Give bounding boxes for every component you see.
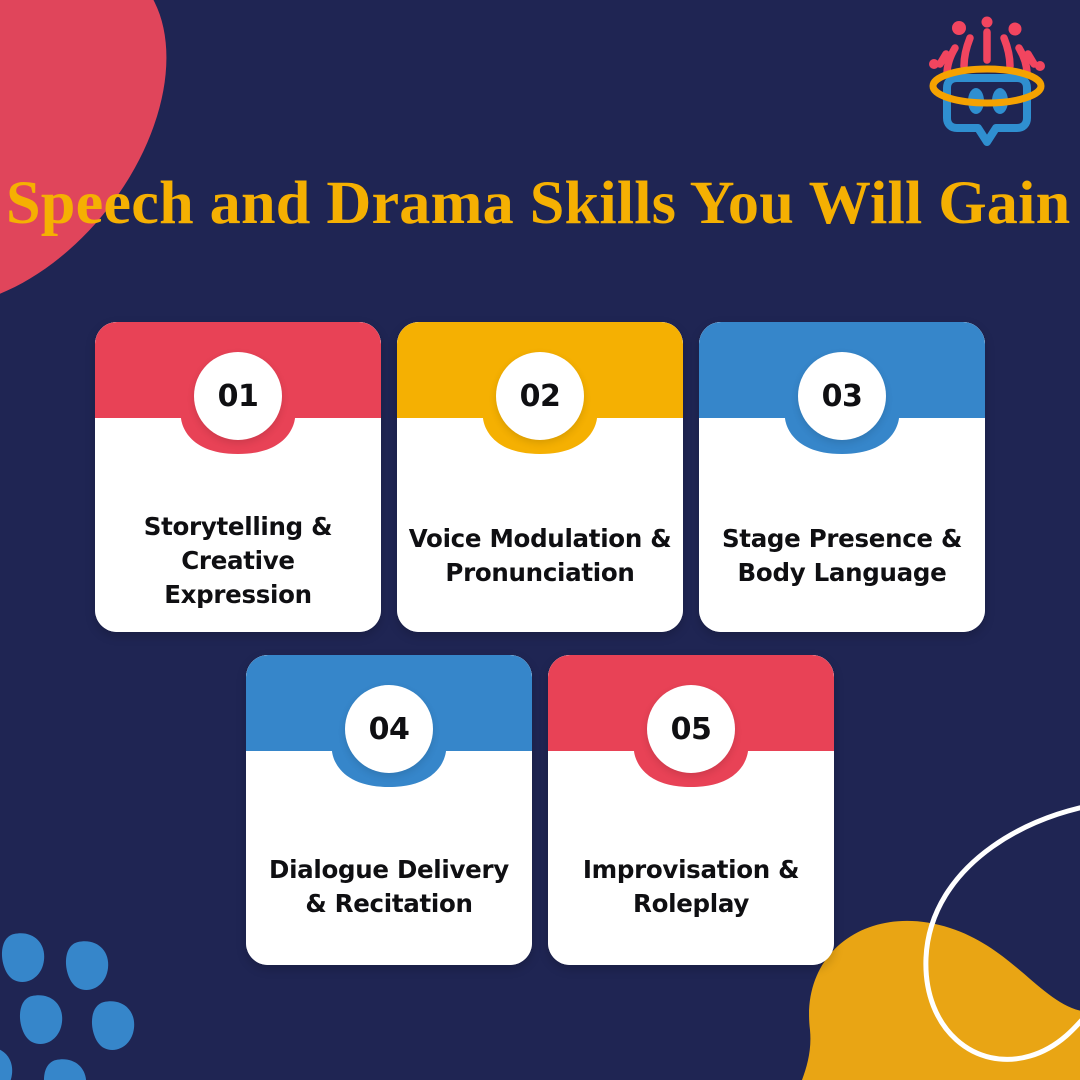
card-surface: 05 Improvisation & Roleplay [548, 655, 834, 965]
card-label: Dialogue Delivery & Recitation [269, 853, 509, 921]
card-number: 02 [520, 379, 561, 414]
card-surface: 02 Voice Modulation & Pronunciation [397, 322, 683, 632]
card-row-2: 04 Dialogue Delivery & Recitation 05 Im [0, 655, 1080, 965]
card-label: Storytelling & Creative Expression [118, 510, 358, 611]
card-number-badge: 04 [345, 685, 433, 773]
card-number: 04 [369, 712, 410, 747]
chatbot-burst-logo [922, 14, 1052, 149]
chat-bubble-icon [947, 78, 1027, 142]
page-title: Speech and Drama Skills You Will Gain [6, 172, 1080, 236]
card-label: Stage Presence & Body Language [699, 522, 985, 590]
card-number-badge: 05 [647, 685, 735, 773]
card-number-badge: 02 [496, 352, 584, 440]
card-number-badge: 01 [194, 352, 282, 440]
card-number-badge: 03 [798, 352, 886, 440]
skill-card-04[interactable]: 04 Dialogue Delivery & Recitation [246, 655, 532, 965]
card-number: 03 [822, 379, 863, 414]
infographic-canvas: Speech and Drama Skills You Will Gain 01… [0, 0, 1080, 1080]
card-label: Voice Modulation & Pronunciation [397, 522, 683, 590]
skill-card-05[interactable]: 05 Improvisation & Roleplay [548, 655, 834, 965]
skill-card-02[interactable]: 02 Voice Modulation & Pronunciation [397, 322, 683, 632]
card-surface: 03 Stage Presence & Body Language [699, 322, 985, 632]
skill-card-01[interactable]: 01 Storytelling & Creative Expression [95, 322, 381, 632]
card-surface: 04 Dialogue Delivery & Recitation [246, 655, 532, 965]
card-number: 01 [218, 379, 259, 414]
card-label: Improvisation & Roleplay [561, 853, 821, 921]
skills-card-grid: 01 Storytelling & Creative Expression 02 [0, 322, 1080, 965]
card-number: 05 [671, 712, 712, 747]
skill-card-03[interactable]: 03 Stage Presence & Body Language [699, 322, 985, 632]
card-surface: 01 Storytelling & Creative Expression [95, 322, 381, 632]
card-row-1: 01 Storytelling & Creative Expression 02 [0, 322, 1080, 632]
